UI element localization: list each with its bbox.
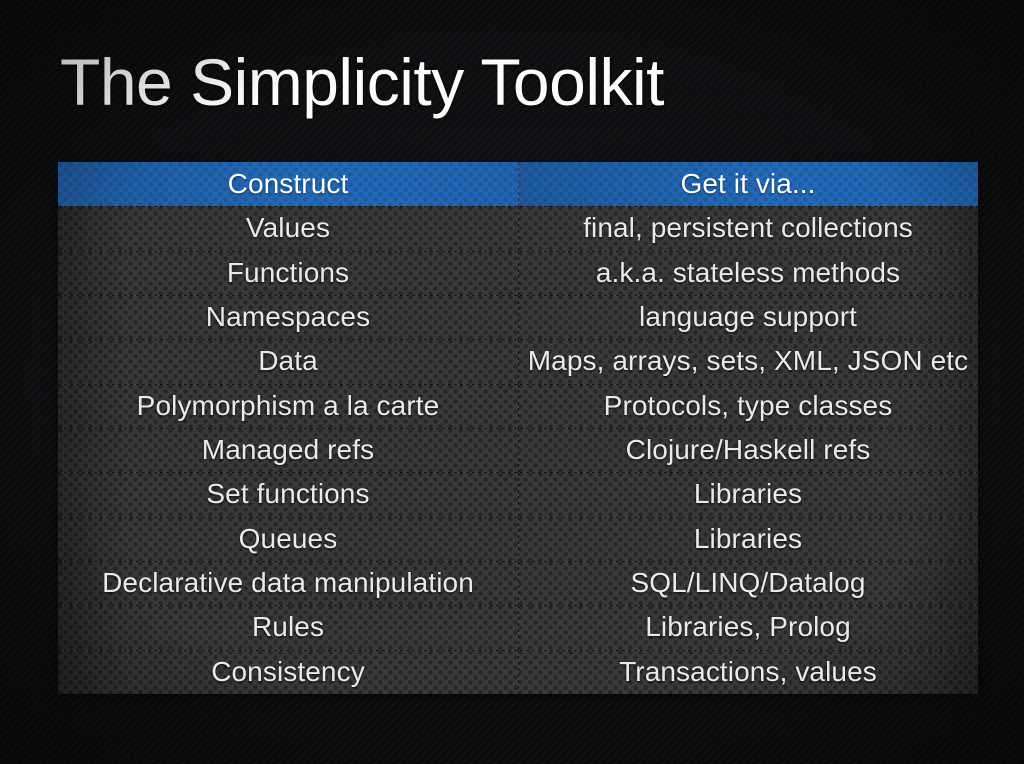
cell-get-it-via-text: Maps, arrays, sets, XML, JSON etc: [528, 345, 969, 377]
cell-construct: Functions: [58, 251, 518, 295]
cell-construct-text: Set functions: [206, 478, 369, 510]
column-header-construct: Construct: [58, 162, 518, 206]
cell-get-it-via: Transactions, values: [518, 650, 978, 694]
table-row: Values final, persistent collections: [58, 206, 978, 250]
cell-get-it-via-text: language support: [639, 301, 857, 333]
cell-get-it-via: final, persistent collections: [518, 206, 978, 250]
table-row: Functions a.k.a. stateless methods: [58, 251, 978, 295]
cell-get-it-via-text: Libraries: [694, 523, 802, 555]
table-row: Rules Libraries, Prolog: [58, 605, 978, 649]
cell-construct: Values: [58, 206, 518, 250]
cell-get-it-via-text: a.k.a. stateless methods: [596, 257, 900, 289]
cell-get-it-via-text: SQL/LINQ/Datalog: [630, 567, 865, 599]
column-divider: [518, 605, 519, 649]
cell-get-it-via-text: final, persistent collections: [583, 212, 913, 244]
cell-get-it-via: SQL/LINQ/Datalog: [518, 561, 978, 605]
cell-construct: Polymorphism a la carte: [58, 384, 518, 428]
cell-get-it-via-text: Clojure/Haskell refs: [626, 434, 871, 466]
cell-construct-text: Rules: [252, 611, 324, 643]
table-row: Set functions Libraries: [58, 472, 978, 516]
cell-get-it-via: Libraries: [518, 472, 978, 516]
column-divider: [518, 295, 519, 339]
column-divider: [518, 428, 519, 472]
cell-construct-text: Data: [258, 345, 318, 377]
cell-get-it-via-text: Libraries: [694, 478, 802, 510]
table-row: Queues Libraries: [58, 517, 978, 561]
column-header-construct-label: Construct: [228, 168, 349, 200]
cell-construct-text: Declarative data manipulation: [102, 567, 474, 599]
cell-construct: Consistency: [58, 650, 518, 694]
cell-construct-text: Polymorphism a la carte: [137, 390, 440, 422]
column-divider: [518, 162, 519, 206]
cell-get-it-via: Libraries: [518, 517, 978, 561]
cell-construct: Set functions: [58, 472, 518, 516]
column-divider: [518, 650, 519, 694]
table-row: Data Maps, arrays, sets, XML, JSON etc: [58, 339, 978, 383]
cell-get-it-via: a.k.a. stateless methods: [518, 251, 978, 295]
cell-construct: Declarative data manipulation: [58, 561, 518, 605]
column-divider: [518, 206, 519, 250]
column-divider: [518, 339, 519, 383]
column-header-get-it-via: Get it via...: [518, 162, 978, 206]
cell-get-it-via: Clojure/Haskell refs: [518, 428, 978, 472]
column-header-get-it-via-label: Get it via...: [680, 168, 815, 200]
cell-construct: Data: [58, 339, 518, 383]
cell-construct-text: Queues: [239, 523, 338, 555]
cell-get-it-via: Maps, arrays, sets, XML, JSON etc: [518, 339, 978, 383]
table-row: Managed refs Clojure/Haskell refs: [58, 428, 978, 472]
table-row: Polymorphism a la carte Protocols, type …: [58, 384, 978, 428]
cell-get-it-via-text: Transactions, values: [619, 656, 877, 688]
table-row: Namespaces language support: [58, 295, 978, 339]
cell-get-it-via-text: Protocols, type classes: [604, 390, 893, 422]
cell-construct: Managed refs: [58, 428, 518, 472]
cell-construct-text: Managed refs: [202, 434, 374, 466]
cell-construct-text: Values: [246, 212, 330, 244]
cell-construct-text: Functions: [227, 257, 349, 289]
cell-get-it-via: Libraries, Prolog: [518, 605, 978, 649]
column-divider: [518, 472, 519, 516]
column-divider: [518, 561, 519, 605]
cell-get-it-via-text: Libraries, Prolog: [645, 611, 851, 643]
simplicity-toolkit-table: Construct Get it via... Values final, pe…: [58, 162, 978, 694]
table-header-row: Construct Get it via...: [58, 162, 978, 206]
cell-get-it-via: Protocols, type classes: [518, 384, 978, 428]
column-divider: [518, 384, 519, 428]
cell-construct-text: Namespaces: [206, 301, 370, 333]
table-row: Consistency Transactions, values: [58, 650, 978, 694]
cell-construct: Rules: [58, 605, 518, 649]
column-divider: [518, 517, 519, 561]
presentation-slide: The Simplicity Toolkit Construct Get it …: [0, 0, 1024, 764]
table-row: Declarative data manipulation SQL/LINQ/D…: [58, 561, 978, 605]
cell-construct: Queues: [58, 517, 518, 561]
cell-construct: Namespaces: [58, 295, 518, 339]
page-title: The Simplicity Toolkit: [60, 47, 664, 118]
column-divider: [518, 251, 519, 295]
cell-get-it-via: language support: [518, 295, 978, 339]
cell-construct-text: Consistency: [211, 656, 365, 688]
